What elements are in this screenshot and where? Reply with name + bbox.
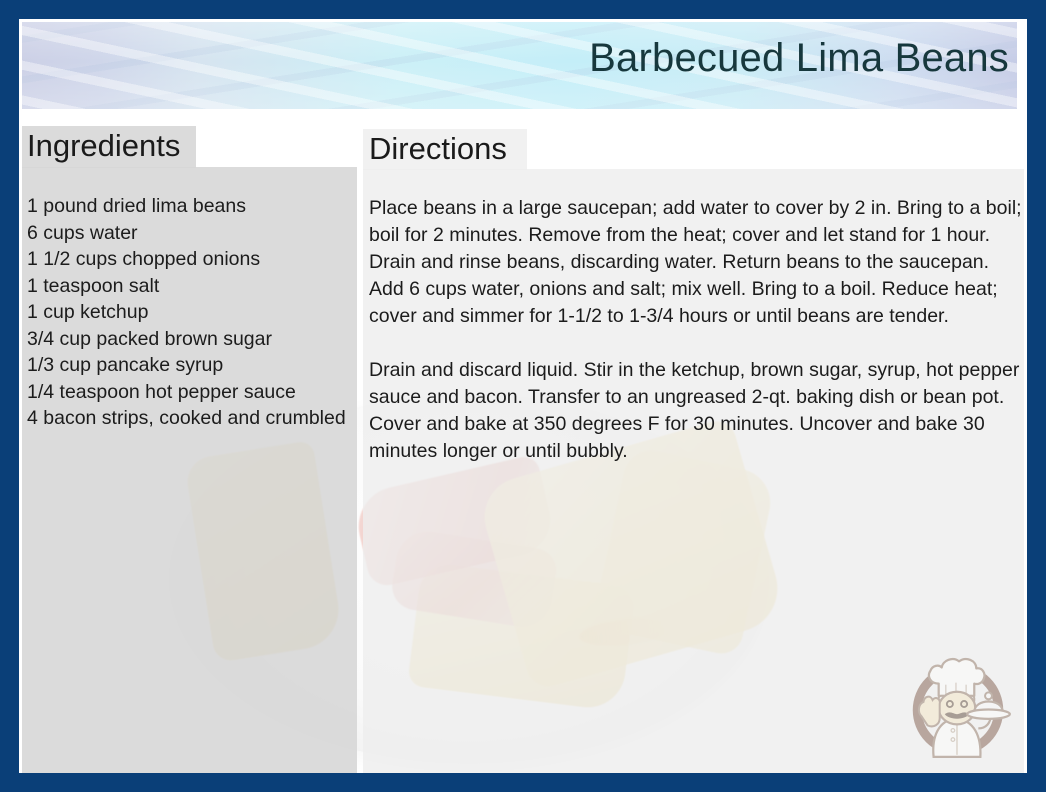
direction-paragraph: Drain and discard liquid. Stir in the ke… (369, 357, 1022, 465)
list-item: 1/4 teaspoon hot pepper sauce (27, 379, 347, 406)
card-inner: Barbecued Lima Beans Ingredients 1 pound… (19, 19, 1027, 773)
directions-body: Place beans in a large saucepan; add wat… (369, 195, 1022, 465)
list-item: 1 teaspoon salt (27, 273, 347, 300)
directions-heading: Directions (369, 131, 507, 167)
ingredients-heading: Ingredients (27, 128, 180, 164)
chef-mascot-logo (897, 643, 1019, 765)
list-item: 1 pound dried lima beans (27, 193, 347, 220)
list-item: 1 1/2 cups chopped onions (27, 246, 347, 273)
list-item: 3/4 cup packed brown sugar (27, 326, 347, 353)
list-item: 4 bacon strips, cooked and crumbled (27, 405, 347, 432)
recipe-card: Barbecued Lima Beans Ingredients 1 pound… (0, 0, 1046, 792)
direction-paragraph: Place beans in a large saucepan; add wat… (369, 195, 1022, 330)
list-item: 1/3 cup pancake syrup (27, 352, 347, 379)
list-item: 6 cups water (27, 220, 347, 247)
ingredients-list: 1 pound dried lima beans 6 cups water 1 … (27, 193, 347, 432)
list-item: 1 cup ketchup (27, 299, 347, 326)
page-title: Barbecued Lima Beans (589, 36, 1009, 81)
